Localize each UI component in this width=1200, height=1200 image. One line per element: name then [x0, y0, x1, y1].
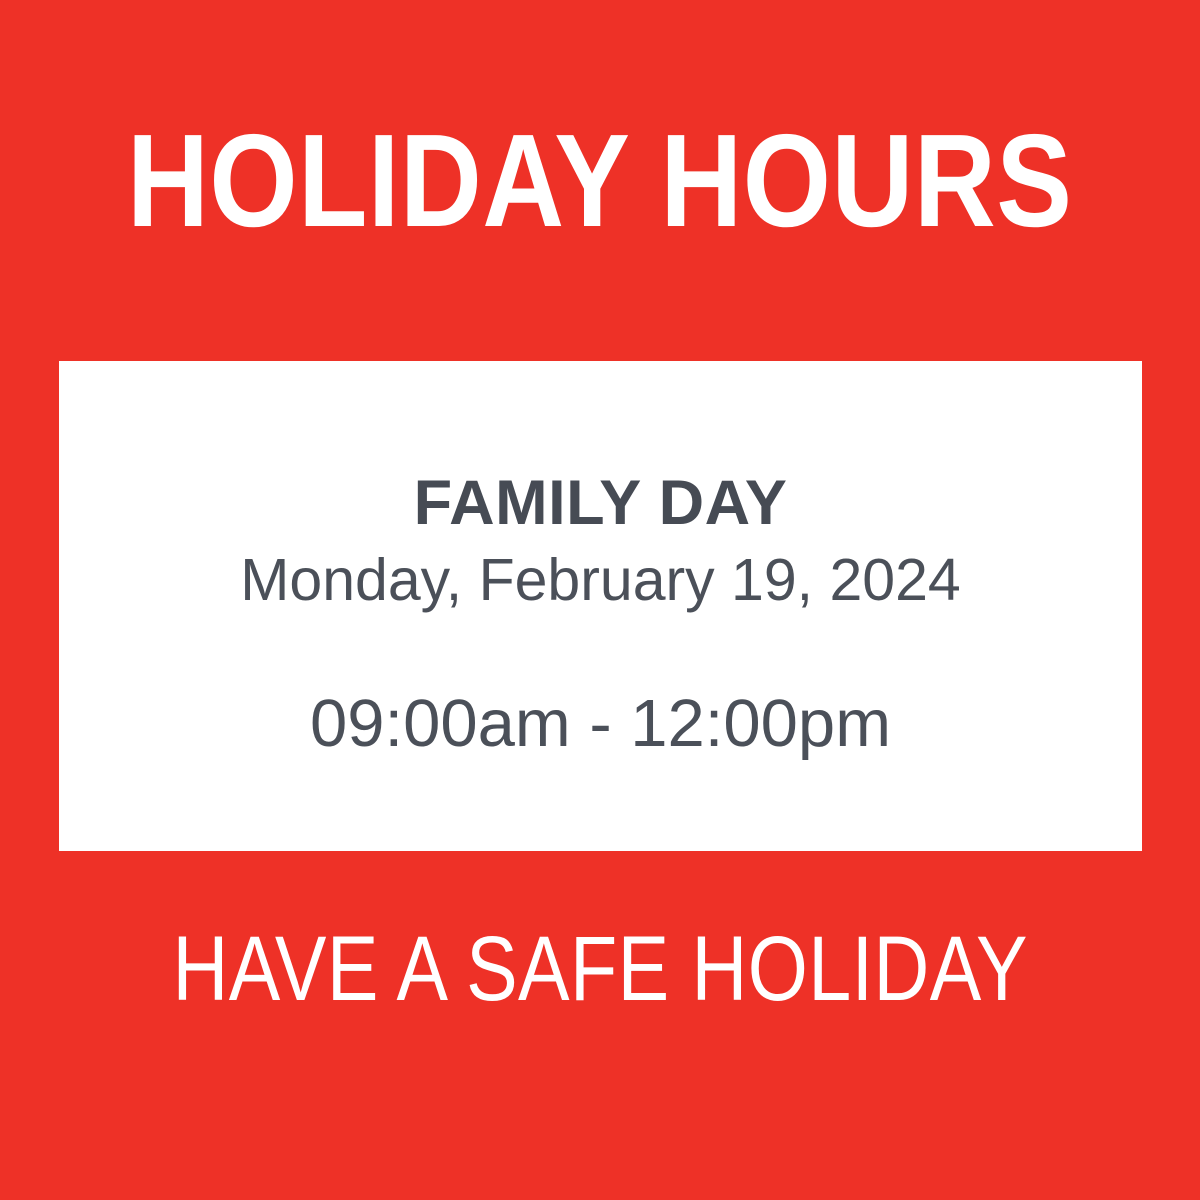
page-title: HOLIDAY HOURS — [127, 115, 1072, 247]
poster-header: HOLIDAY HOURS — [0, 0, 1200, 361]
holiday-name: FAMILY DAY — [59, 469, 1142, 537]
holiday-info-content: FAMILY DAY Monday, February 19, 2024 09:… — [59, 451, 1142, 761]
safe-holiday-message: HAVE A SAFE HOLIDAY — [172, 923, 1028, 1015]
holiday-date: Monday, February 19, 2024 — [59, 547, 1142, 613]
holiday-info-card: FAMILY DAY Monday, February 19, 2024 09:… — [59, 361, 1142, 851]
poster-footer: HAVE A SAFE HOLIDAY — [0, 851, 1200, 1200]
holiday-hours-range: 09:00am - 12:00pm — [59, 687, 1142, 761]
holiday-hours-poster: HOLIDAY HOURS FAMILY DAY Monday, Februar… — [0, 0, 1200, 1200]
